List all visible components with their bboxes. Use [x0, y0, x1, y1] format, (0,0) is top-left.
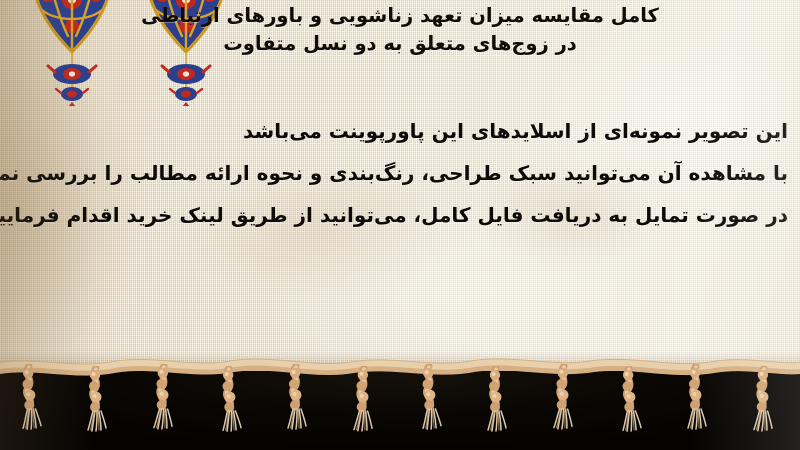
fringe-tassel — [347, 365, 383, 432]
title-line-2: در زوج‌های متعلق به دو نسل متفاوت — [16, 30, 784, 58]
body-line-2: با مشاهده آن می‌توانید سبک طراحی، رنگ‌بن… — [4, 152, 788, 194]
fringe-tassel — [681, 364, 715, 430]
fringe-tassel — [81, 366, 115, 432]
fringe-tassel — [747, 365, 783, 432]
body-line-3: در صورت تمایل به دریافت فایل کامل، می‌تو… — [4, 194, 788, 236]
black-backdrop — [0, 371, 800, 450]
fringe-tassel — [481, 366, 515, 432]
slide-body: این تصویر نمونه‌ای از اسلایدهای این پاور… — [4, 110, 788, 236]
slide-title: کامل مقایسه میزان تعهد زناشویی و باورهای… — [16, 2, 784, 58]
fringe-tassel — [547, 363, 583, 430]
fringe-tassel — [614, 365, 650, 432]
fringe-tassel — [281, 364, 315, 430]
slide-canvas: کامل مقایسه میزان تعهد زناشویی و باورهای… — [0, 0, 800, 450]
fringe-cord — [0, 358, 800, 378]
title-line-1: کامل مقایسه میزان تعهد زناشویی و باورهای… — [16, 2, 784, 30]
fringe-tassel — [214, 365, 250, 432]
fringe-tassel — [14, 363, 50, 430]
body-line-1: این تصویر نمونه‌ای از اسلایدهای این پاور… — [4, 110, 788, 152]
fringe-tassel — [147, 363, 183, 430]
fringe-tassel — [414, 363, 450, 430]
